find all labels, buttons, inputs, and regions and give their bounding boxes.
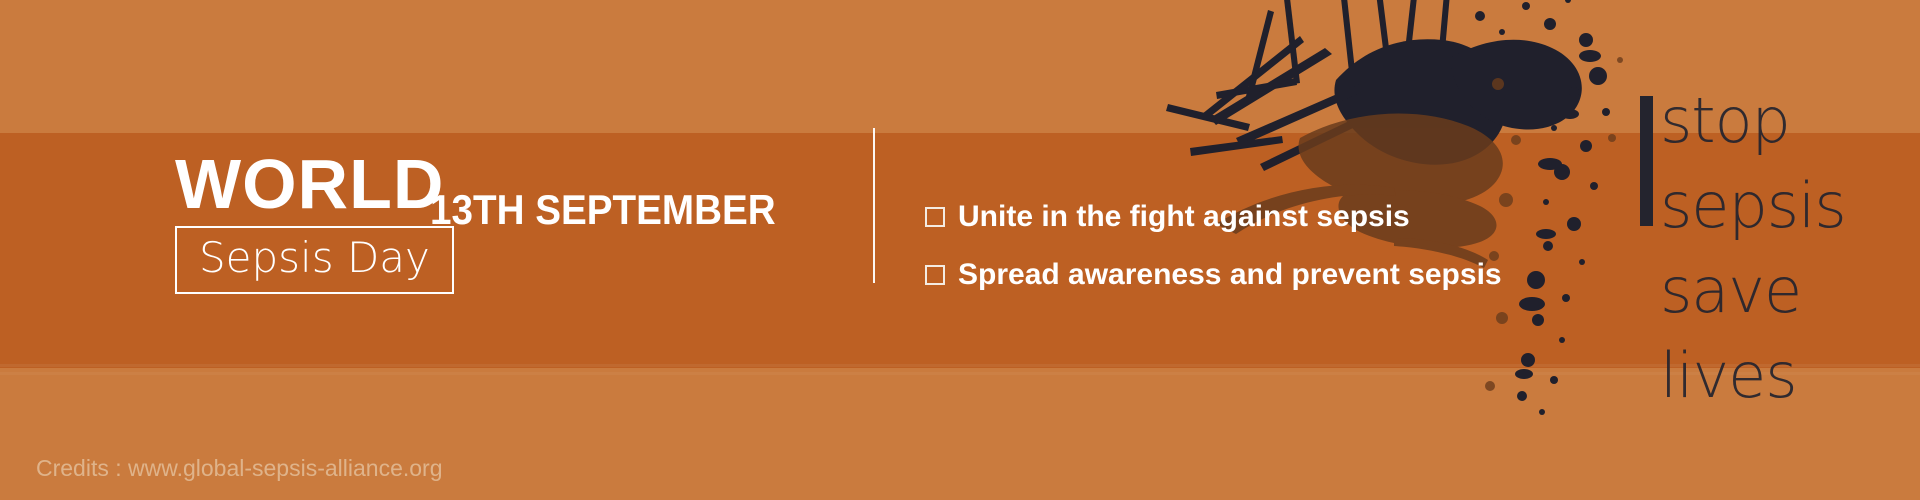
list-item-label: Unite in the fight against sepsis	[958, 200, 1410, 234]
page-subtitle: Sepsis Day	[199, 234, 430, 282]
event-date: 13TH SEPTEMBER	[430, 186, 776, 234]
band-hairline-lower	[0, 372, 1920, 375]
vertical-divider	[873, 128, 875, 283]
slogan-line-2: sepsis	[1660, 163, 1920, 248]
credits-text: Credits : www.global-sepsis-alliance.org	[36, 455, 443, 482]
background-band-top	[0, 0, 1920, 133]
slogan-accent-bar	[1640, 96, 1653, 226]
list-item-label: Spread awareness and prevent sepsis	[958, 258, 1502, 292]
slogan-line-3: save	[1660, 248, 1920, 333]
world-sepsis-day-banner: stop sepsis save lives WORLD Sepsis Day …	[0, 0, 1920, 500]
crop-mark-icon	[925, 207, 945, 227]
list-item: Unite in the fight against sepsis	[925, 200, 1545, 234]
message-list: Unite in the fight against sepsis Spread…	[925, 200, 1545, 316]
list-item: Spread awareness and prevent sepsis	[925, 258, 1545, 292]
sepsis-day-box: Sepsis Day	[175, 226, 454, 294]
crop-mark-icon	[925, 265, 945, 285]
slogan-stop-sepsis-save-lives: stop sepsis save lives	[1660, 78, 1920, 418]
slogan-line-4: lives	[1660, 333, 1920, 418]
band-hairline-upper	[0, 364, 1920, 367]
slogan-line-1: stop	[1660, 78, 1920, 163]
